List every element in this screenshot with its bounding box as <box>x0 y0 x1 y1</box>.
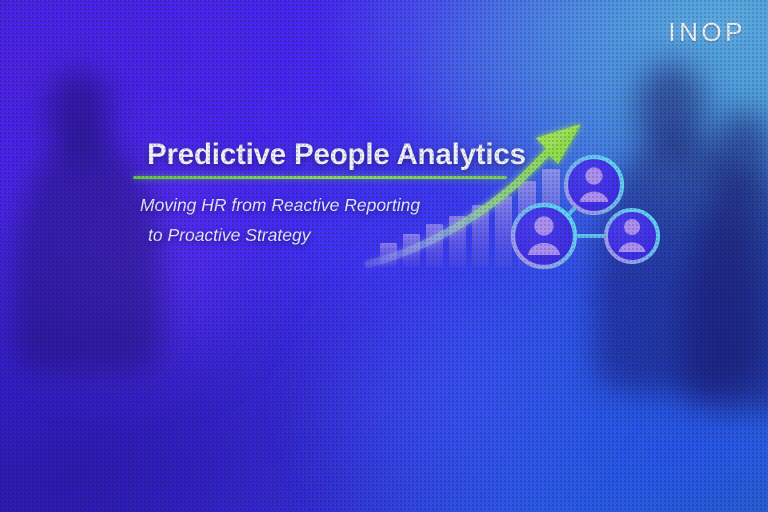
bar <box>495 196 512 267</box>
page-subtitle: Moving HR from Reactive Reporting to Pro… <box>140 190 420 250</box>
silhouette-body <box>11 138 163 373</box>
presentation-slide: Predictive People Analytics Moving HR fr… <box>0 0 768 512</box>
people-network-icon <box>513 157 658 267</box>
subtitle-line-2: to Proactive Strategy <box>140 220 420 250</box>
silhouette-body <box>682 180 768 412</box>
title-divider <box>133 176 507 179</box>
network-node-top <box>566 157 622 213</box>
network-node-right <box>606 210 658 262</box>
brand-logo: INOP <box>668 17 746 48</box>
background-silhouette-right <box>690 110 768 410</box>
page-title: Predictive People Analytics <box>147 138 526 172</box>
subtitle-line-1: Moving HR from Reactive Reporting <box>140 195 420 215</box>
network-node-left <box>513 205 575 267</box>
